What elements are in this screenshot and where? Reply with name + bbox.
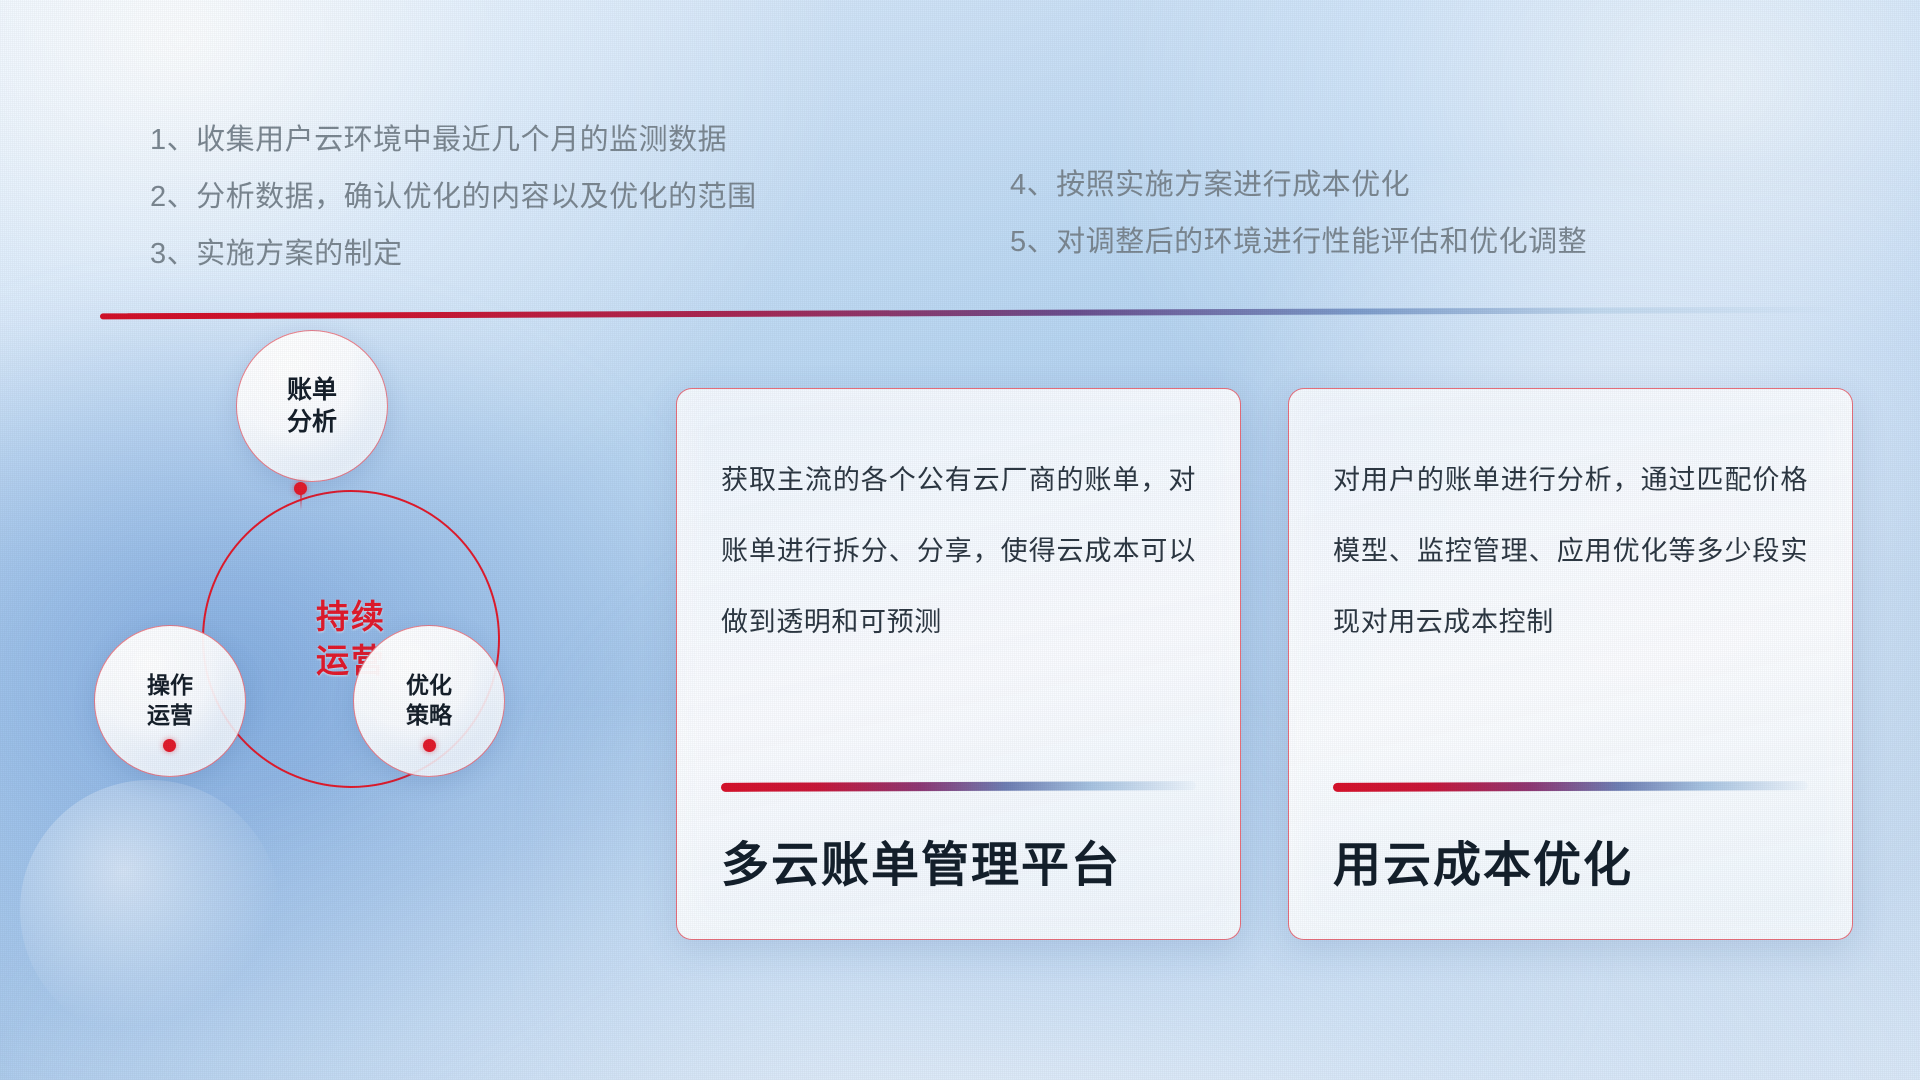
- card-2-divider: [1333, 781, 1808, 792]
- diagram-node-bill-analysis-line2: 分析: [287, 406, 337, 439]
- slide-canvas: 1、收集用户云环境中最近几个月的监测数据 2、分析数据，确认优化的内容以及优化的…: [0, 0, 1920, 1080]
- diagram-node-optimization-strategy[interactable]: 优化 策略: [353, 625, 505, 777]
- card-1-spacer: [721, 658, 1196, 782]
- continuous-operation-diagram: 持续 运营 账单 分析 操作 运营 优化 策略: [90, 330, 610, 850]
- diagram-dot-left: [163, 739, 176, 752]
- steps-column-right: 4、按照实施方案进行成本优化 5、对调整后的环境进行性能评估和优化调整: [1010, 112, 1810, 283]
- step-item-3: 3、实施方案的制定: [150, 226, 1010, 283]
- diagram-node-optimization-strategy-line1: 优化: [406, 671, 452, 701]
- diagram-dot-right: [423, 739, 436, 752]
- step-item-4: 4、按照实施方案进行成本优化: [1010, 157, 1810, 214]
- diagram-dot-top: [294, 482, 307, 495]
- steps-column-left: 1、收集用户云环境中最近几个月的监测数据 2、分析数据，确认优化的内容以及优化的…: [150, 112, 1010, 283]
- diagram-node-operations[interactable]: 操作 运营: [94, 625, 246, 777]
- diagram-center-label-line1: 持续: [316, 595, 386, 639]
- step-item-5: 5、对调整后的环境进行性能评估和优化调整: [1010, 214, 1810, 271]
- card-multi-cloud-billing-platform[interactable]: 获取主流的各个公有云厂商的账单，对账单进行拆分、分享，使得云成本可以做到透明和可…: [676, 388, 1241, 940]
- diagram-node-operations-line2: 运营: [147, 701, 193, 731]
- card-2-title: 用云成本优化: [1333, 825, 1808, 895]
- step-item-2: 2、分析数据，确认优化的内容以及优化的范围: [150, 169, 1010, 226]
- diagram-node-operations-line1: 操作: [147, 671, 193, 701]
- steps-list: 1、收集用户云环境中最近几个月的监测数据 2、分析数据，确认优化的内容以及优化的…: [150, 112, 1850, 283]
- card-2-spacer: [1333, 658, 1808, 782]
- card-cloud-cost-optimization[interactable]: 对用户的账单进行分析，通过匹配价格模型、监控管理、应用优化等多少段实现对用云成本…: [1288, 388, 1853, 940]
- diagram-node-bill-analysis[interactable]: 账单 分析: [236, 330, 388, 482]
- diagram-node-bill-analysis-line1: 账单: [287, 374, 337, 407]
- card-2-body: 对用户的账单进行分析，通过匹配价格模型、监控管理、应用优化等多少段实现对用云成本…: [1333, 445, 1808, 658]
- card-1-divider: [721, 781, 1196, 792]
- card-1-body: 获取主流的各个公有云厂商的账单，对账单进行拆分、分享，使得云成本可以做到透明和可…: [721, 445, 1196, 658]
- card-1-title: 多云账单管理平台: [721, 825, 1196, 895]
- diagram-connector-top: [300, 494, 302, 510]
- diagram-node-optimization-strategy-line2: 策略: [406, 701, 452, 731]
- step-item-1: 1、收集用户云环境中最近几个月的监测数据: [150, 112, 1010, 169]
